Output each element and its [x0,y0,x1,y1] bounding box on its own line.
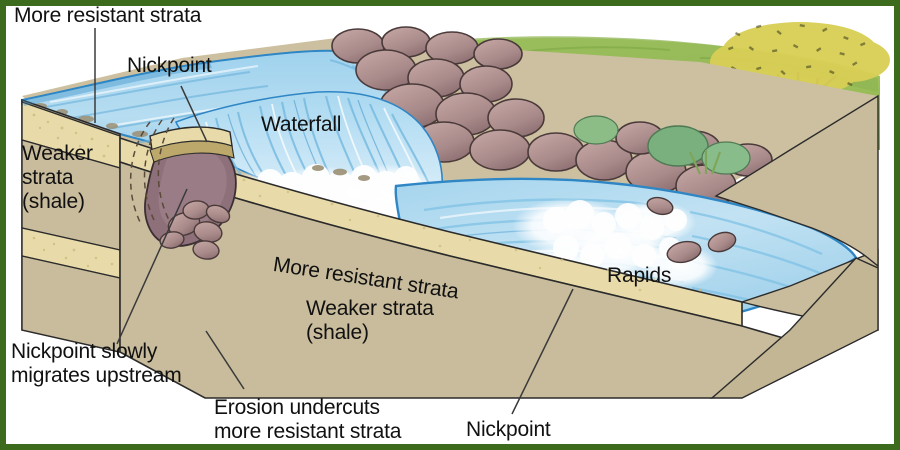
leader-erosion-undercuts [206,331,244,389]
label-rapids: Rapids [607,264,671,288]
label-waterfall: Waterfall [261,113,341,137]
label-weaker-strata-middle: Weaker strata (shale) [306,297,434,345]
label-more-resistant-strata-top: More resistant strata [14,4,201,28]
label-nickpoint-migrates-upstream: Nickpoint slowly migrates upstream [11,340,182,388]
label-nickpoint-top: Nickpoint [127,54,212,78]
leader-nickpoint-bottom [512,289,573,414]
leader-nickpoint-top [181,86,207,142]
label-nickpoint-bottom: Nickpoint [466,418,551,442]
label-weaker-strata-left: Weaker strata (shale) [22,142,93,214]
label-erosion-undercuts: Erosion undercuts more resistant strata [214,396,401,444]
diagram-canvas: More resistant strata Nickpoint Waterfal… [0,0,900,450]
leader-nickpoint-migrates [117,189,187,344]
